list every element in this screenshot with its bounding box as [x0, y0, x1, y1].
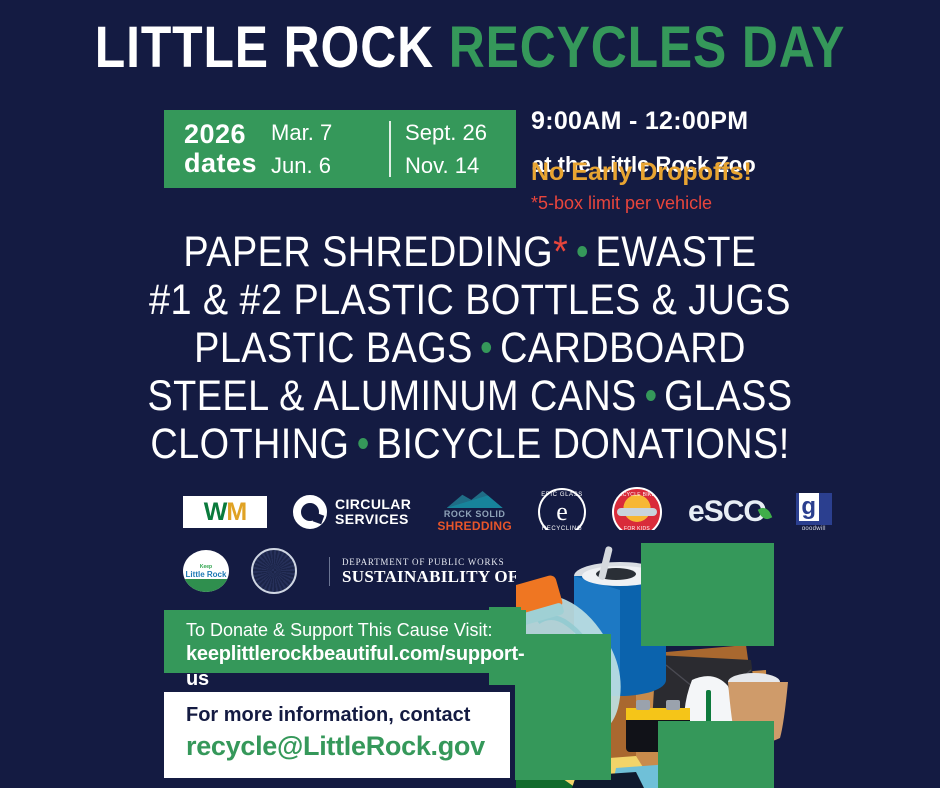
accepted-materials-list: PAPER SHREDDING*EWASTE #1 & #2 PLASTIC B…: [0, 228, 940, 468]
esco-logo: eSCO: [688, 495, 770, 529]
klrb-skyline-icon: [183, 579, 229, 592]
title-part-green: RECYCLES DAY: [449, 15, 846, 80]
green-block-middle: [515, 634, 611, 780]
event-location-warning-stack: at the Little Rock Zoo No Early Dropoffs…: [531, 148, 851, 194]
event-time: 9:00AM - 12:00PM: [531, 106, 851, 136]
dates-column-2: Sept. 26 Nov. 14: [391, 116, 529, 182]
materials-line-3: PLASTIC BAGSCARDBOARD: [56, 324, 883, 372]
material-plastic-bottles: #1 & #2 PLASTIC BOTTLES & JUGS: [149, 276, 791, 324]
recycling-event-poster: LITTLE ROCK RECYCLES DAY 2026 dates Mar.…: [0, 0, 940, 788]
bullet-dot-icon: [646, 390, 656, 401]
klrb-mid-text: Little Rock: [186, 570, 227, 579]
bullet-dot-icon: [482, 342, 492, 353]
goodwill-letter: g: [799, 493, 819, 521]
event-info: 9:00AM - 12:00PM at the Little Rock Zoo …: [531, 106, 851, 214]
rock-solid-line1: ROCK SOLID: [444, 509, 506, 519]
recycle-bikes-top-text: RECYCLE BIKES: [614, 492, 660, 498]
green-block-bottom: [658, 721, 774, 788]
wm-logo-w: W: [204, 496, 227, 528]
bullet-dot-icon: [358, 438, 368, 449]
shredding-asterisk: *: [553, 228, 568, 276]
goodwill-mark: g: [796, 493, 832, 525]
epic-glass-recycling-logo: EPIC GLASS e RECYCLING: [538, 488, 586, 536]
material-bicycle-donations: BICYCLE DONATIONS!: [377, 420, 790, 468]
no-early-dropoffs-warning: No Early Dropoffs!: [531, 158, 752, 186]
epic-glass-top-text: EPIC GLASS: [540, 492, 584, 498]
materials-line-4: STEEL & ALUMINUM CANSGLASS: [56, 372, 883, 420]
circular-arrow-icon: [293, 495, 327, 529]
material-cans: STEEL & ALUMINUM CANS: [147, 372, 636, 420]
wm-logo: WM: [183, 496, 267, 528]
esco-wordmark: eSCO: [688, 495, 766, 529]
dates-label-word: dates: [184, 149, 257, 178]
bike-chain-icon: [617, 508, 657, 516]
dates-box: 2026 dates Mar. 7 Jun. 6 Sept. 26 Nov. 1…: [164, 110, 516, 188]
city-seal-icon: [251, 548, 297, 594]
dates-divider: [389, 121, 391, 177]
title-part-white: LITTLE ROCK: [95, 15, 434, 80]
contact-cta-label: For more information, contact: [186, 702, 510, 729]
dates-label-year: 2026: [184, 120, 257, 149]
circular-services-logo: CIRCULAR SERVICES: [293, 495, 411, 529]
date-item: Nov. 14: [405, 149, 515, 182]
contact-cta-box[interactable]: For more information, contact recycle@Li…: [164, 692, 510, 778]
circular-services-wordmark: CIRCULAR SERVICES: [335, 497, 411, 527]
dates-label: 2026 dates: [164, 120, 257, 178]
material-plastic-bags: PLASTIC BAGS: [194, 324, 473, 372]
rock-solid-line2: SHREDDING: [437, 520, 512, 533]
material-ewaste: EWASTE: [596, 228, 757, 276]
contact-cta-email[interactable]: recycle@LittleRock.gov: [186, 729, 510, 763]
circular-services-line1: CIRCULAR: [335, 497, 411, 512]
material-glass: GLASS: [664, 372, 792, 420]
wm-logo-m: M: [226, 496, 246, 528]
materials-line-1: PAPER SHREDDING*EWASTE: [56, 228, 883, 276]
material-cardboard: CARDBOARD: [500, 324, 746, 372]
rock-solid-shredding-logo: ROCK SOLID SHREDDING: [437, 491, 512, 533]
bullet-dot-icon: [577, 246, 587, 257]
materials-line-5: CLOTHINGBICYCLE DONATIONS!: [56, 420, 883, 468]
material-clothing: CLOTHING: [150, 420, 349, 468]
donate-cta-url[interactable]: keeplittlerockbeautiful.com/support-us: [186, 642, 526, 692]
date-item: Jun. 6: [271, 149, 375, 182]
date-item: Mar. 7: [271, 116, 375, 149]
materials-line-2: #1 & #2 PLASTIC BOTTLES & JUGS: [56, 276, 883, 324]
donate-cta-label: To Donate & Support This Cause Visit:: [186, 619, 526, 642]
keep-little-rock-beautiful-logo: Keep Little Rock: [183, 550, 229, 592]
green-block-top: [641, 543, 774, 646]
dates-columns: Mar. 7 Jun. 6 Sept. 26 Nov. 14: [257, 116, 529, 182]
poster-title: LITTLE ROCK RECYCLES DAY: [66, 16, 874, 80]
date-item: Sept. 26: [405, 116, 515, 149]
donate-cta-box[interactable]: To Donate & Support This Cause Visit: ke…: [164, 610, 526, 673]
dates-column-1: Mar. 7 Jun. 6: [257, 116, 389, 182]
epic-glass-letter: e: [556, 497, 568, 527]
goodwill-logo: g goodwill: [796, 493, 832, 532]
mountain-icon: [447, 491, 503, 508]
material-paper-shredding: PAPER SHREDDING: [183, 228, 553, 276]
circular-services-line2: SERVICES: [335, 512, 411, 527]
box-limit-note: *5-box limit per vehicle: [531, 192, 851, 214]
